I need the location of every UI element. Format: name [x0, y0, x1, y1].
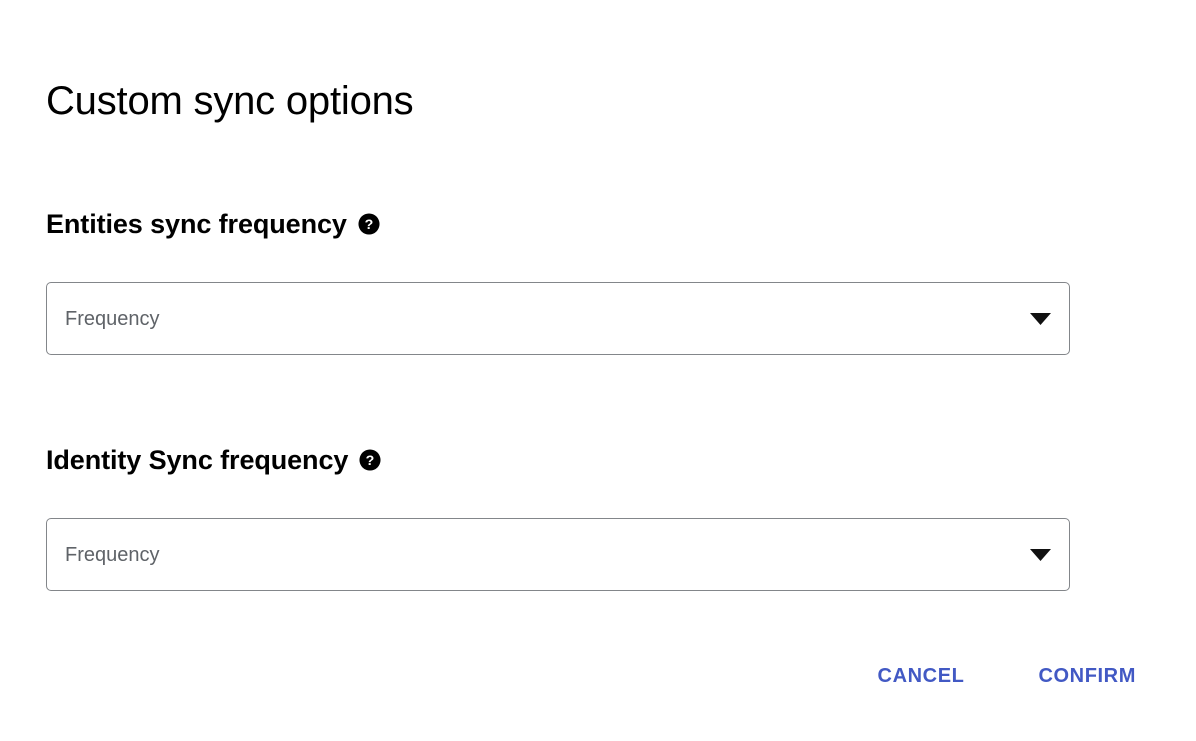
field-label-entities-sync-frequency: Entities sync frequency — [46, 206, 347, 242]
page-title: Custom sync options — [46, 77, 413, 125]
field-group-identity-sync-frequency: Identity Sync frequency ? Frequency — [46, 442, 1070, 591]
help-circle-icon[interactable]: ? — [358, 213, 380, 235]
select-identity-sync-frequency[interactable]: Frequency — [46, 518, 1070, 591]
field-group-entities-sync-frequency: Entities sync frequency ? Frequency — [46, 206, 1070, 355]
field-label-row: Entities sync frequency ? — [46, 206, 1070, 242]
select-identity-sync-frequency-value: Frequency — [65, 542, 160, 568]
help-circle-icon[interactable]: ? — [359, 449, 381, 471]
select-entities-sync-frequency[interactable]: Frequency — [46, 282, 1070, 355]
chevron-down-icon[interactable] — [1030, 549, 1051, 561]
confirm-button[interactable]: CONFIRM — [1030, 657, 1144, 695]
svg-text:?: ? — [366, 453, 375, 469]
field-label-row: Identity Sync frequency ? — [46, 442, 1070, 478]
svg-text:?: ? — [364, 217, 373, 233]
chevron-down-icon[interactable] — [1030, 313, 1051, 325]
field-label-identity-sync-frequency: Identity Sync frequency — [46, 442, 348, 478]
dialog-actions: CANCEL CONFIRM — [870, 657, 1144, 695]
select-entities-sync-frequency-value: Frequency — [65, 306, 160, 332]
custom-sync-options-dialog: Custom sync options Entities sync freque… — [0, 0, 1196, 741]
cancel-button[interactable]: CANCEL — [870, 657, 973, 695]
